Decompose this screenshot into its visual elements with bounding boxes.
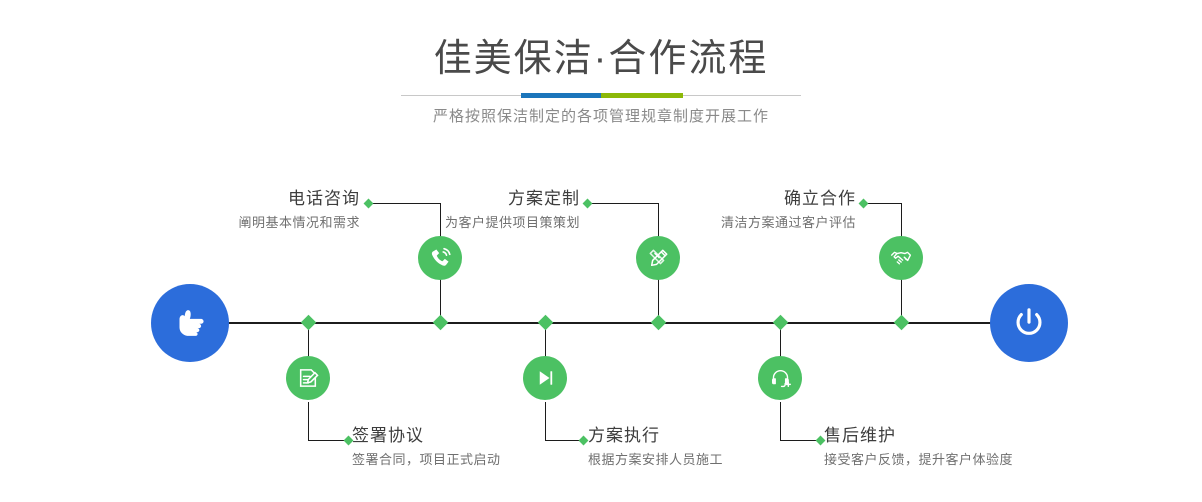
connector-hline-2 [308, 440, 348, 441]
step-desc-3: 为客户提供项目策策划 [325, 213, 580, 233]
step-node-1[interactable] [418, 236, 462, 280]
step-desc-2: 签署合同，项目正式启动 [352, 450, 612, 470]
step-node-4[interactable] [523, 356, 567, 400]
step-node-3[interactable] [636, 236, 680, 280]
page-subtitle: 严格按照保洁制定的各项管理规章制度开展工作 [0, 105, 1202, 126]
step-label-5: 确立合作 清洁方案通过客户评估 [600, 188, 856, 233]
axis-diamond-5 [894, 315, 910, 331]
axis-diamond-4 [538, 315, 554, 331]
header: 佳美保洁·合作流程 严格按照保洁制定的各项管理规章制度开展工作 [0, 0, 1202, 150]
page-title: 佳美保洁·合作流程 [0, 34, 1202, 84]
label-dot-5 [859, 199, 869, 209]
step-title-3: 方案定制 [325, 188, 580, 210]
step-node-6[interactable] [758, 356, 802, 400]
axis-diamond-6 [773, 315, 789, 331]
axis-diamond-3 [651, 315, 667, 331]
step-title-6: 售后维护 [824, 425, 1114, 447]
phone-call-icon [427, 245, 453, 271]
step-title-4: 方案执行 [588, 425, 848, 447]
step-title-1: 电话咨询 [105, 188, 360, 210]
timeline: 电话咨询 阐明基本情况和需求 签署协议 签署合同，项目正式启动 [0, 150, 1202, 502]
step-label-2: 签署协议 签署合同，项目正式启动 [352, 425, 612, 470]
customer-service-add-icon [768, 366, 793, 391]
connector-hline-5 [864, 203, 902, 204]
step-label-1: 电话咨询 阐明基本情况和需求 [105, 188, 360, 233]
label-dot-3 [583, 199, 593, 209]
step-desc-5: 清洁方案通过客户评估 [600, 213, 856, 233]
cooperation-flow-infographic: 佳美保洁·合作流程 严格按照保洁制定的各项管理规章制度开展工作 [0, 0, 1202, 502]
step-label-3: 方案定制 为客户提供项目策策划 [325, 188, 580, 233]
pointing-hand-icon [169, 302, 211, 344]
step-node-2[interactable] [286, 356, 330, 400]
step-node-5[interactable] [879, 236, 923, 280]
divider-green-segment [601, 93, 683, 98]
pencil-ruler-icon [646, 246, 671, 271]
document-edit-icon [295, 365, 321, 391]
power-button-icon [1008, 302, 1050, 344]
step-desc-6: 接受客户反馈，提升客户体验度 [824, 450, 1114, 470]
step-title-5: 确立合作 [600, 188, 856, 210]
step-desc-4: 根据方案安排人员施工 [588, 450, 848, 470]
step-title-2: 签署协议 [352, 425, 612, 447]
start-node-pointing-hand[interactable] [151, 284, 229, 362]
play-skip-icon [533, 366, 557, 390]
end-node-power-button[interactable] [990, 284, 1068, 362]
axis-diamond-2 [301, 315, 317, 331]
connector-vline-2b [308, 402, 309, 440]
divider-blue-segment [521, 93, 601, 98]
step-label-4: 方案执行 根据方案安排人员施工 [588, 425, 848, 470]
handshake-icon [888, 245, 914, 271]
axis-diamond-1 [433, 315, 449, 331]
step-desc-1: 阐明基本情况和需求 [105, 213, 360, 233]
step-label-6: 售后维护 接受客户反馈，提升客户体验度 [824, 425, 1114, 470]
title-divider [401, 93, 801, 99]
